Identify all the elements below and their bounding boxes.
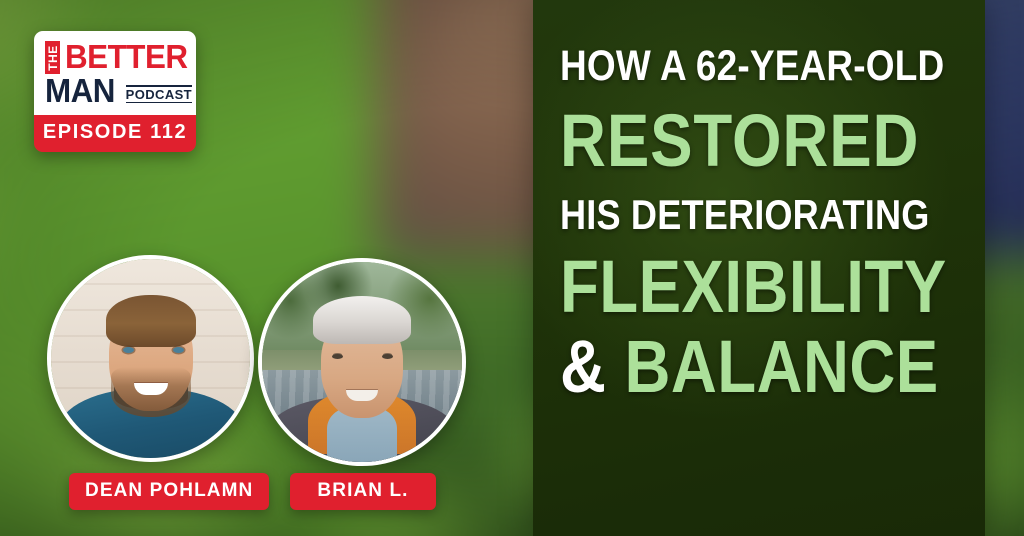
- podcast-episode-thumbnail: HOW A 62-YEAR-OLD RESTORED HIS DETERIORA…: [0, 0, 1024, 536]
- guest-hair: [313, 296, 411, 344]
- guest-name-badge-host: DEAN POHLAMN: [69, 473, 269, 510]
- guest-photo-host: [47, 255, 254, 462]
- man-label: MAN: [45, 75, 115, 106]
- logo-wordmark: THE BETTER MAN PODCAST: [34, 31, 196, 115]
- ampersand: &: [560, 325, 606, 408]
- host-eye-right: [173, 347, 184, 353]
- host-portrait-image: [51, 259, 250, 458]
- title-line-1: HOW A 62-YEAR-OLD: [560, 44, 907, 89]
- title-line-2: RESTORED: [560, 105, 907, 178]
- the-label: THE: [46, 45, 60, 71]
- podcast-label: PODCAST: [126, 87, 192, 102]
- the-badge: THE: [45, 41, 60, 74]
- title-line-4: FLEXIBILITY: [560, 251, 907, 324]
- title-line-3: HIS DETERIORATING: [560, 193, 907, 237]
- podcast-logo: THE BETTER MAN PODCAST EPISODE 112: [34, 31, 196, 152]
- podcast-wordmark: PODCAST: [126, 85, 192, 106]
- podcast-rule-bottom: [126, 102, 192, 104]
- avatar: [258, 258, 466, 466]
- avatar: [47, 255, 254, 462]
- title-line-5-text: BALANCE: [625, 325, 939, 408]
- logo-row-better: THE BETTER: [45, 41, 185, 74]
- episode-number-badge: EPISODE 112: [34, 115, 196, 152]
- guest-portrait-image: [262, 262, 462, 462]
- better-label: BETTER: [65, 42, 188, 72]
- host-hair: [106, 295, 196, 347]
- guest-eye-left: [332, 354, 343, 359]
- guest-name-badge-guest: BRIAN L.: [290, 473, 436, 510]
- title-line-5: & BALANCE: [560, 331, 907, 404]
- episode-title: HOW A 62-YEAR-OLD RESTORED HIS DETERIORA…: [533, 0, 985, 536]
- guest-photo-guest: [258, 258, 466, 466]
- guest-eye-right: [382, 354, 393, 359]
- host-eye-left: [123, 347, 134, 353]
- logo-row-man: MAN PODCAST: [45, 75, 185, 106]
